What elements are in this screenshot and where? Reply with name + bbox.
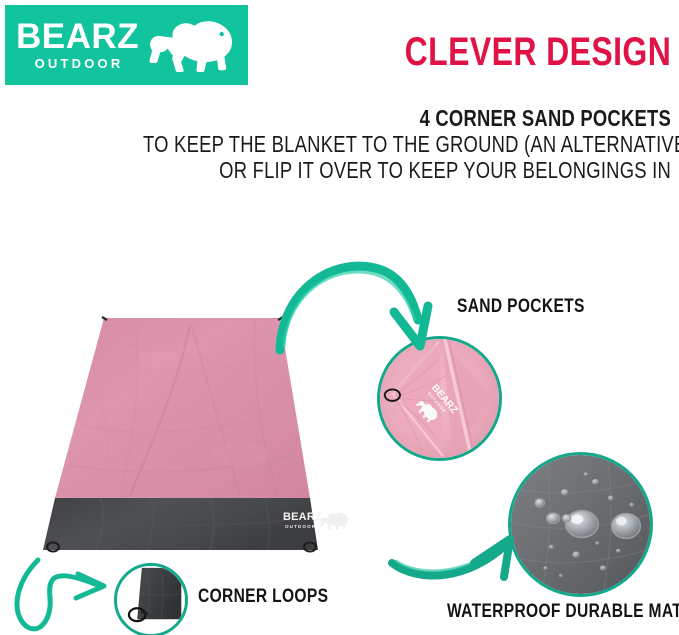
brand-name: BEARZ — [16, 19, 139, 54]
brand-subname: OUTDOOR — [35, 57, 124, 70]
header-subline-3: OR FLIP IT OVER TO KEEP YOUR BELONGINGS … — [143, 157, 671, 183]
svg-text:OUTDOOR: OUTDOOR — [285, 524, 316, 529]
brand-logo-bar: BEARZ OUTDOOR — [5, 5, 248, 85]
sand-pocket-inset: BEARZ OUTDOOR — [377, 336, 502, 461]
header-subline-1: 4 CORNER SAND POCKETS — [143, 105, 671, 131]
beach-blanket-photo: BEARZ OUTDOOR — [40, 305, 390, 570]
header-subline-2: TO KEEP THE BLANKET TO THE GROUND (AN AL… — [143, 131, 671, 157]
blanket-logo: BEARZ OUTDOOR — [283, 511, 348, 530]
brand-wordmark: BEARZ OUTDOOR — [16, 19, 139, 70]
waterproof-material-label: WATERPROOF DURABLE MATERIAL — [447, 601, 679, 623]
waterproof-inset — [508, 452, 653, 597]
bear-silhouette-icon — [145, 16, 237, 72]
infographic-page: BEARZ OUTDOOR CLEVER DESIGN 4 CORNER SAN… — [0, 0, 679, 635]
arrow-to-waterproof-icon — [388, 485, 523, 585]
header-subtext: 4 CORNER SAND POCKETS TO KEEP THE BLANKE… — [11, 105, 671, 183]
svg-text:BEARZ: BEARZ — [283, 511, 322, 523]
brand-logo-inner: BEARZ OUTDOOR — [16, 16, 237, 72]
corner-loop-inset — [114, 563, 188, 635]
page-title: CLEVER DESIGN — [404, 30, 671, 75]
sand-pockets-label: SAND POCKETS — [457, 296, 585, 318]
corner-loops-label: CORNER LOOPS — [198, 586, 328, 608]
